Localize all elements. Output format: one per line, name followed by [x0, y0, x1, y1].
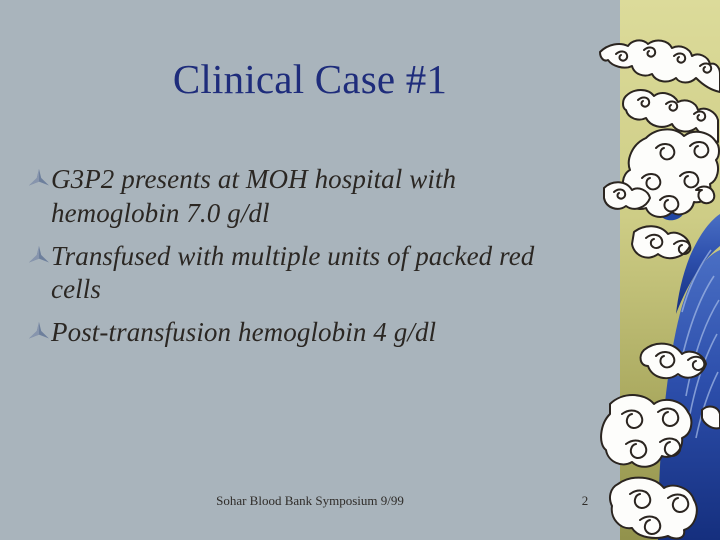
tristar-bullet-icon	[28, 245, 50, 275]
list-item: Post-transfusion hemoglobin 4 g/dl	[28, 316, 588, 351]
list-item-label: G3P2 presents at MOH hospital with hemog…	[51, 163, 588, 231]
tristar-bullet-icon	[28, 168, 50, 198]
footer-note: Sohar Blood Bank Symposium 9/99	[0, 493, 620, 509]
slide-title: Clinical Case #1	[0, 58, 620, 101]
slide-body-list: G3P2 presents at MOH hospital with hemog…	[28, 163, 588, 360]
hokusai-wave-border-icon	[620, 0, 720, 540]
slide-number: 2	[560, 493, 610, 509]
list-item: G3P2 presents at MOH hospital with hemog…	[28, 163, 588, 231]
list-item: Transfused with multiple units of packed…	[28, 240, 588, 308]
tristar-bullet-icon	[28, 321, 50, 351]
presentation-slide: Clinical Case #1 G3P2 presents at MOH ho…	[0, 0, 720, 540]
list-item-label: Transfused with multiple units of packed…	[51, 240, 588, 308]
list-item-label: Post-transfusion hemoglobin 4 g/dl	[51, 316, 588, 350]
